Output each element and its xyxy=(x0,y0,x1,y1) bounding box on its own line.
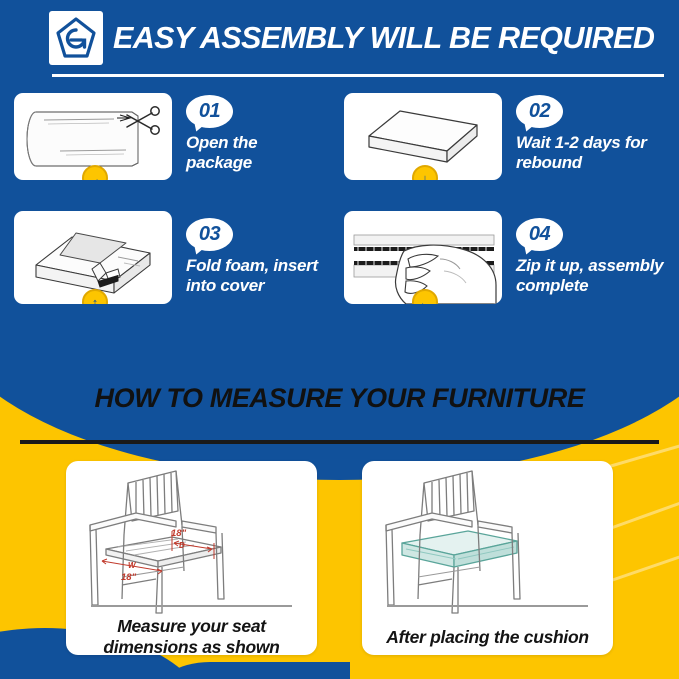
step-badge-01: 01 xyxy=(186,95,233,132)
chair-with-dimension-callouts-illustration: 18" D W 18" xyxy=(66,465,317,615)
step-card-01: → xyxy=(14,93,172,180)
step-label-03: Fold foam, insert into cover xyxy=(186,256,346,296)
measure-card-left-caption: Measure your seat dimensions as shown xyxy=(66,616,317,655)
dimension-label-width-inches: 18" xyxy=(121,572,137,583)
measure-card-right-divider xyxy=(387,605,588,607)
step-badge-02: 02 xyxy=(516,95,563,132)
measure-card-left: 18" D W 18" Measure your seat dimensions… xyxy=(66,461,317,655)
step-02-line1: Wait 1-2 days for xyxy=(516,133,676,153)
step-01-line2: package xyxy=(186,153,331,173)
step-label-01: Open the package xyxy=(186,133,331,173)
infographic-root: EASY ASSEMBLY WILL BE REQUIRED xyxy=(0,0,679,679)
dimension-label-depth: D xyxy=(179,541,185,550)
step-02-line2: rebound xyxy=(516,153,676,173)
left-caption-line1: Measure your seat xyxy=(66,616,317,637)
page-title: EASY ASSEMBLY WILL BE REQUIRED xyxy=(113,14,663,62)
step-04-line1: Zip it up, assembly xyxy=(516,256,679,276)
step-03-line2: into cover xyxy=(186,276,346,296)
step-card-03: ↑ xyxy=(14,211,172,304)
step-card-02: ↓ xyxy=(344,93,502,180)
measure-card-right-caption: After placing the cushion xyxy=(362,627,613,648)
measure-section-title: HOW TO MEASURE YOUR FURNITURE xyxy=(0,383,679,414)
step-badge-03: 03 xyxy=(186,218,233,255)
step-04-line2: complete xyxy=(516,276,679,296)
step-03-line1: Fold foam, insert xyxy=(186,256,346,276)
step-label-02: Wait 1-2 days for rebound xyxy=(516,133,676,173)
step-number-03: 03 xyxy=(186,218,233,251)
step-number-01: 01 xyxy=(186,95,233,128)
header-divider xyxy=(52,74,664,77)
measure-section-divider xyxy=(20,440,659,444)
step-01-line1: Open the xyxy=(186,133,331,153)
chair-with-cushion-illustration xyxy=(362,465,613,615)
dimension-label-depth-inches: 18" xyxy=(171,528,187,539)
measure-card-left-divider xyxy=(91,605,292,607)
step-card-04: ← xyxy=(344,211,502,304)
left-caption-line2: dimensions as shown xyxy=(66,637,317,655)
step-number-02: 02 xyxy=(516,95,563,128)
step-badge-04: 04 xyxy=(516,218,563,255)
house-pentagon-logo-icon xyxy=(49,11,103,65)
step-number-04: 04 xyxy=(516,218,563,251)
measure-card-right: After placing the cushion xyxy=(362,461,613,655)
right-caption-line1: After placing the cushion xyxy=(362,627,613,648)
header: EASY ASSEMBLY WILL BE REQUIRED xyxy=(0,0,679,86)
step-label-04: Zip it up, assembly complete xyxy=(516,256,679,296)
